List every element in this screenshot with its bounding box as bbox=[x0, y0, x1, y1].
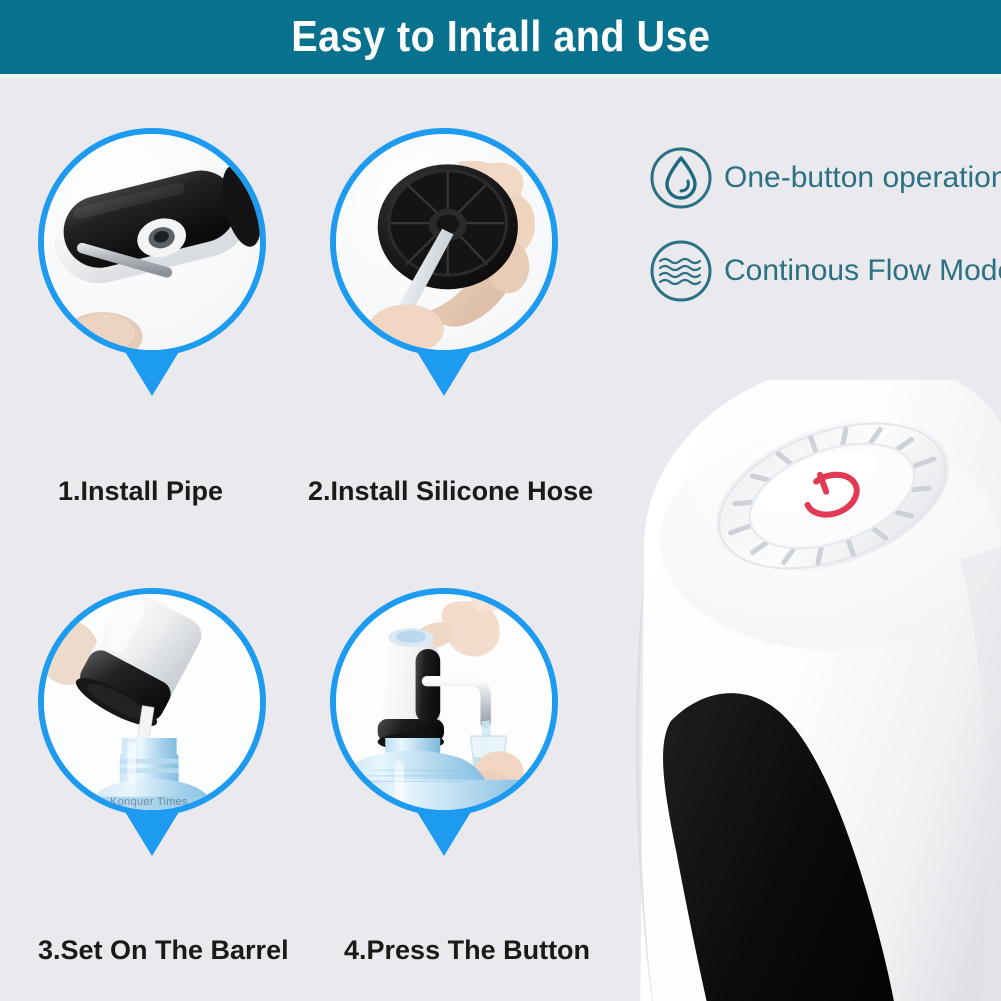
step-caption-1: 1.Install Pipe bbox=[58, 476, 223, 507]
bubble-ring-1 bbox=[38, 128, 266, 356]
press-button-photo bbox=[336, 594, 552, 810]
page-title: Easy to Intall and Use bbox=[291, 12, 710, 62]
header-underline bbox=[0, 74, 1001, 78]
bubble-ring-4 bbox=[330, 588, 558, 816]
feature-label-one-button-operation: One-button operation bbox=[724, 161, 1001, 195]
water-drop-icon bbox=[648, 145, 714, 211]
image-watermark: Konquer Times bbox=[110, 796, 188, 808]
step-bubble-3: Konquer Times bbox=[38, 588, 266, 816]
install-hose-photo bbox=[336, 134, 552, 350]
header-banner: Easy to Intall and Use bbox=[0, 0, 1001, 74]
feature-one-button-operation: One-button operation bbox=[648, 145, 1001, 211]
dispenser-closeup-illustration bbox=[600, 380, 1001, 1001]
step-caption-3: 3.Set On The Barrel bbox=[38, 935, 289, 966]
step-bubble-1 bbox=[38, 128, 266, 356]
feature-label-continous-flow-mode: Continous Flow Mode bbox=[724, 254, 1001, 288]
waves-icon bbox=[648, 238, 714, 304]
install-pipe-photo bbox=[44, 134, 260, 350]
set-on-barrel-photo bbox=[44, 594, 260, 810]
step-bubble-2 bbox=[330, 128, 558, 356]
feature-continous-flow-mode: Continous Flow Mode bbox=[648, 238, 1001, 304]
step-caption-2: 2.Install Silicone Hose bbox=[308, 476, 593, 507]
hero-product-photo bbox=[600, 380, 1001, 1001]
infographic-page: Easy to Intall and Use bbox=[0, 0, 1001, 1001]
step-bubble-4 bbox=[330, 588, 558, 816]
step-caption-4: 4.Press The Button bbox=[344, 935, 590, 966]
bubble-ring-3: Konquer Times bbox=[38, 588, 266, 816]
bubble-ring-2 bbox=[330, 128, 558, 356]
